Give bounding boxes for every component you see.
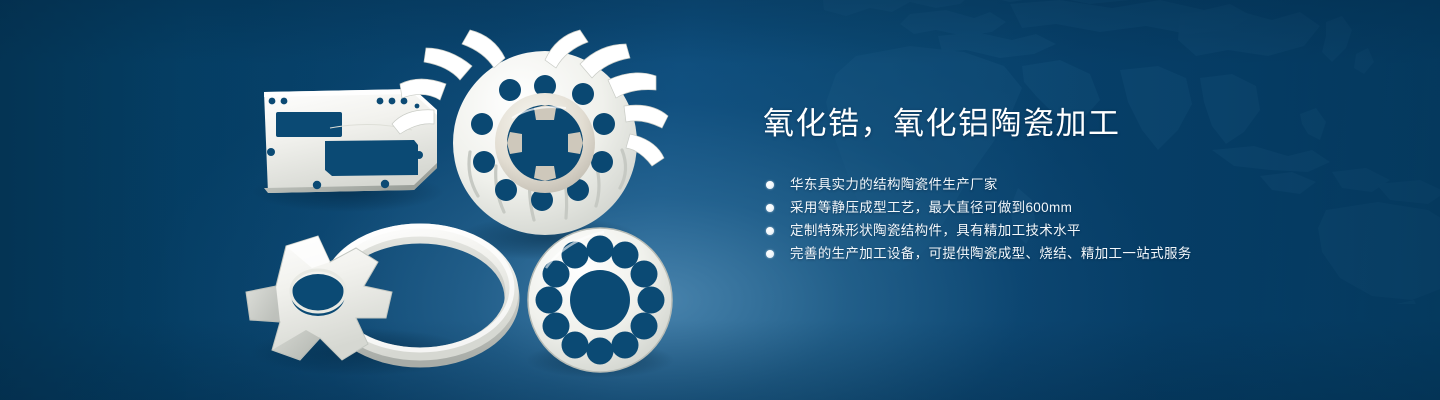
ceramic-valve-plate-12-holes (528, 228, 672, 372)
list-item-label: 华东具实力的结构陶瓷件生产厂家 (790, 177, 998, 192)
list-item: 采用等静压成型工艺，最大直径可做到600mm (763, 196, 1383, 219)
banner-headline: 氧化锆，氧化铝陶瓷加工 (763, 104, 1383, 144)
ceramic-plate-with-cutouts (264, 89, 437, 193)
bullet-dot-icon (766, 250, 774, 258)
feature-list: 华东具实力的结构陶瓷件生产厂家 采用等静压成型工艺，最大直径可做到600mm 定… (763, 173, 1383, 265)
list-item-label: 完善的生产加工设备，可提供陶瓷成型、烧结、精加工一站式服务 (790, 246, 1192, 261)
bullet-dot-icon (766, 181, 774, 189)
bullet-dot-icon (766, 204, 774, 212)
list-item: 完善的生产加工设备，可提供陶瓷成型、烧结、精加工一站式服务 (763, 242, 1383, 265)
list-item: 定制特殊形状陶瓷结构件，具有精加工技术水平 (763, 219, 1383, 242)
list-item: 华东具实力的结构陶瓷件生产厂家 (763, 173, 1383, 196)
list-item-label: 定制特殊形状陶瓷结构件，具有精加工技术水平 (790, 223, 1081, 238)
list-item-label: 采用等静压成型工艺，最大直径可做到600mm (790, 200, 1072, 215)
bullet-dot-icon (766, 227, 774, 235)
promo-banner: 氧化锆，氧化铝陶瓷加工 华东具实力的结构陶瓷件生产厂家 采用等静压成型工艺，最大… (0, 0, 1440, 400)
banner-copy: 氧化锆，氧化铝陶瓷加工 华东具实力的结构陶瓷件生产厂家 采用等静压成型工艺，最大… (763, 104, 1383, 265)
product-photo-group (0, 0, 720, 400)
